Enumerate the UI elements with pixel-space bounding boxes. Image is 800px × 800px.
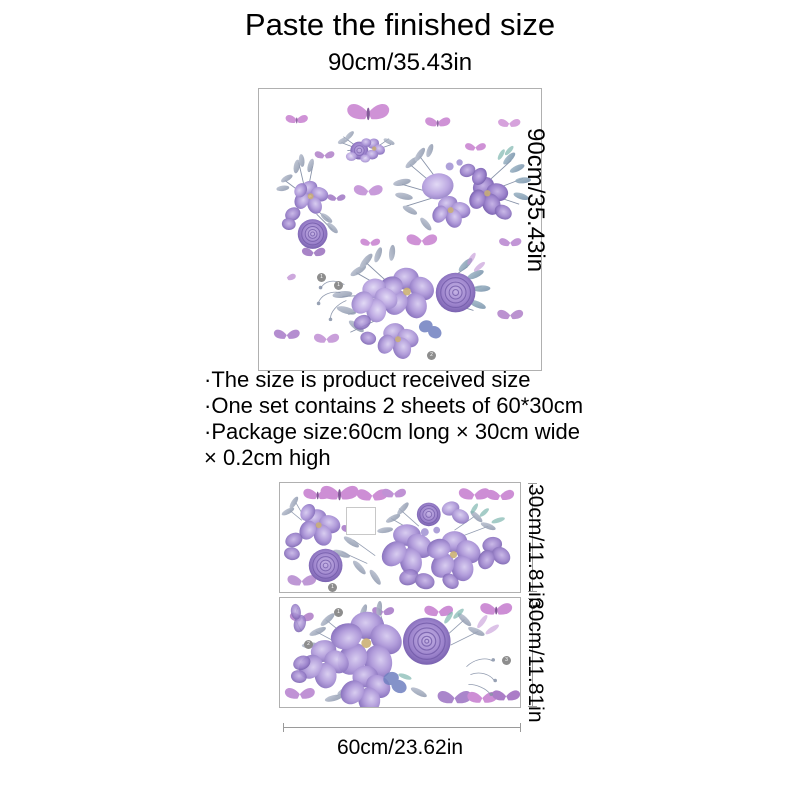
sheet-1-height-label: 30cm/11.81in [524, 484, 547, 609]
note-line-2: ·One set contains 2 sheets of 60*30cm [204, 393, 634, 419]
note-line-4: × 0.2cm high [204, 445, 634, 471]
artwork-marker-2: 2 [427, 351, 436, 360]
floral-artwork-main [259, 89, 541, 370]
artwork-marker-1: 1 [317, 273, 326, 282]
sheet-2-marker-2: 2 [304, 640, 313, 649]
sheet-2-marker-3: 3 [502, 656, 511, 665]
floral-artwork-sheet-2 [280, 598, 520, 707]
sheet-1-marker-1: 1 [328, 583, 337, 592]
artwork-marker-1b: 1 [334, 281, 343, 290]
sheet-2-marker-1: 1 [334, 608, 343, 617]
sheet-width-dimension-line [283, 723, 521, 732]
finished-size-preview: 1 1 2 [258, 88, 542, 371]
dimension-bar [283, 727, 521, 728]
product-size-infographic: Paste the finished size 90cm/35.43in [0, 0, 800, 800]
sheet-2-height-label: 30cm/11.81in [524, 598, 547, 723]
finished-height-label: 90cm/35.43in [522, 128, 548, 272]
dimension-tick-left [283, 723, 284, 732]
sheet-width-label: 60cm/23.62in [279, 736, 521, 760]
sheet-1-preview: 1 [279, 482, 521, 593]
product-notes: ·The size is product received size ·One … [204, 367, 634, 471]
sheet-1-thumbnail-inset [346, 507, 376, 535]
sheet-2-preview: 1 2 3 [279, 597, 521, 708]
dimension-tick-right [520, 723, 521, 732]
finished-width-label: 90cm/35.43in [0, 48, 800, 78]
page-title: Paste the finished size [0, 6, 800, 44]
note-line-1: ·The size is product received size [204, 367, 634, 393]
note-line-3: ·Package size:60cm long × 30cm wide [204, 419, 634, 445]
floral-artwork-sheet-1 [280, 483, 520, 592]
